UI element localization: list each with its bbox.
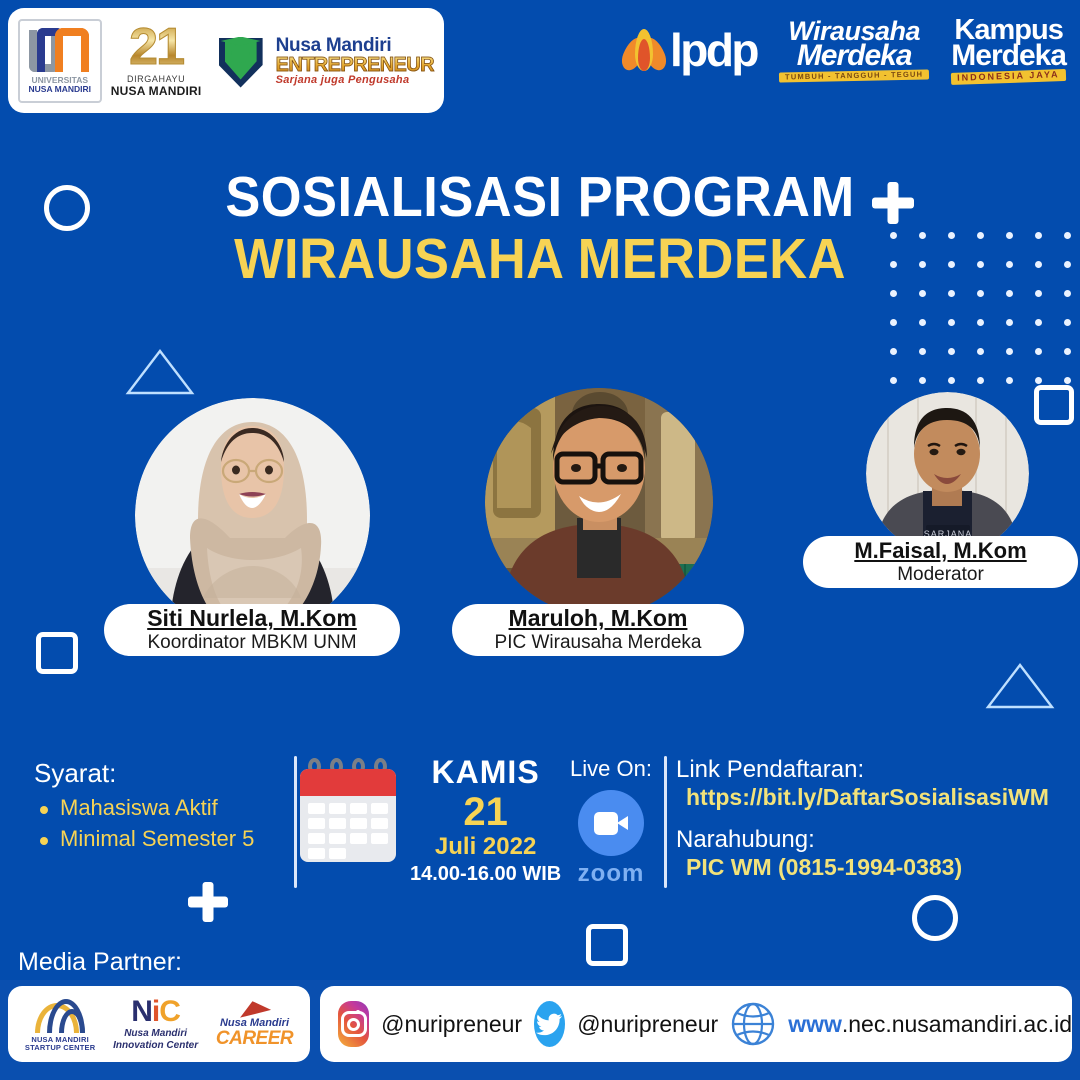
title-line-1: SOSIALISASI PROGRAM [43, 168, 1037, 228]
schedule-text: KAMIS 21 Juli 2022 14.00-16.00 WIB [410, 752, 561, 886]
live-on-block: Live On: zoom [563, 756, 659, 888]
speaker-photo-2 [485, 388, 713, 616]
entrepreneur-line2: ENTREPRENEUR [276, 55, 434, 75]
title-line-2: WIRAUSAHA MERDEKA [43, 228, 1037, 291]
requirement-item: Minimal Semester 5 [60, 826, 254, 852]
kampus-line2: Merdeka [951, 43, 1066, 69]
live-on-label: Live On: [563, 756, 659, 782]
wirausaha-line2: Merdeka [779, 43, 929, 69]
speaker-role-3: Moderator [897, 564, 984, 585]
contact-value: PIC WM (0815-1994-0383) [686, 854, 1049, 882]
anniversary-line2: NUSA MANDIRI [110, 84, 203, 98]
speaker-role-2: PIC Wirausaha Merdeka [495, 632, 702, 653]
website-prefix: www [788, 1011, 842, 1037]
schedule-month-year: Juli 2022 [410, 833, 561, 861]
entrepreneur-tagline: Sarjana juga Pengusaha [276, 75, 434, 86]
calendar-icon [300, 766, 396, 862]
lpdp-wordmark: lpdp [670, 30, 757, 71]
startup-center-logo: NUSA MANDIRI STARTUP CENTER [25, 997, 95, 1051]
footer-bar: NUSA MANDIRI STARTUP CENTER NiC Nusa Man… [0, 980, 1080, 1080]
speaker-name-1: Siti Nurlela, M.Kom [147, 606, 357, 632]
entrepreneur-line1: Nusa Mandiri [276, 36, 434, 55]
divider-1 [294, 756, 297, 888]
anniversary-line1: DIRGAHAYU [110, 74, 203, 84]
speaker-name-2: Maruloh, M.Kom [509, 606, 688, 632]
globe-icon [730, 1001, 776, 1047]
registration-link-value[interactable]: https://bit.ly/DaftarSosialisasiWM [686, 784, 1049, 812]
graduate-shield-icon [211, 30, 271, 92]
instagram-icon[interactable] [338, 1001, 369, 1047]
unm-logo: UNIVERSITAS NUSA MANDIRI [18, 19, 102, 103]
website-domain: .nec.nusamandiri.ac.id [842, 1011, 1072, 1037]
instagram-handle[interactable]: @nuripreneur [381, 1011, 522, 1038]
signal-arcs-icon [33, 997, 87, 1033]
career-line2: CAREER [216, 1029, 293, 1048]
requirements-heading: Syarat: [34, 758, 254, 789]
requirements-list: Mahasiswa Aktif Minimal Semester 5 [34, 795, 254, 852]
speaker-photo-3: SARJANA [866, 392, 1029, 555]
speaker-name-3: M.Faisal, M.Kom [854, 539, 1026, 564]
career-logo: Nusa Mandiri CAREER [216, 1001, 293, 1048]
header-logo-card: UNIVERSITAS NUSA MANDIRI 21 DIRGAHAYU NU… [8, 8, 444, 113]
poster-canvas: UNIVERSITAS NUSA MANDIRI 21 DIRGAHAYU NU… [0, 0, 1080, 1080]
decor-plus-bottom-left [188, 882, 228, 922]
speaker-name-chip-3: M.Faisal, M.Kom Moderator [803, 536, 1078, 588]
innovation-center-line2: Innovation Center [113, 1041, 198, 1051]
registration-link-label: Link Pendaftaran: [676, 756, 1049, 784]
graduation-cap-icon [216, 1001, 293, 1018]
poster-title: SOSIALISASI PROGRAM WIRAUSAHA MERDEKA [0, 168, 1080, 291]
schedule-time: 14.00-16.00 WIB [410, 863, 561, 886]
startup-center-line2: STARTUP CENTER [25, 1044, 95, 1052]
media-partner-heading: Media Partner: [18, 948, 182, 977]
twitter-handle[interactable]: @nuripreneur [577, 1011, 718, 1038]
twitter-icon[interactable] [534, 1001, 565, 1047]
nic-monogram-icon: NiC [113, 997, 198, 1027]
requirements-block: Syarat: Mahasiswa Aktif Minimal Semester… [34, 758, 254, 857]
video-camera-icon[interactable] [578, 790, 644, 856]
speaker-photo-1 [135, 398, 370, 633]
media-partner-logos: NUSA MANDIRI STARTUP CENTER NiC Nusa Man… [8, 986, 310, 1062]
decor-square-bottom-center [586, 924, 628, 966]
flame-icon [624, 27, 664, 73]
innovation-center-line1: Nusa Mandiri [113, 1029, 198, 1039]
website-url[interactable]: www.nec.nusamandiri.ac.id [788, 1011, 1072, 1038]
career-line1: Nusa Mandiri [216, 1018, 293, 1029]
speaker-name-chip-1: Siti Nurlela, M.Kom Koordinator MBKM UNM [104, 604, 400, 656]
schedule-day: KAMIS [410, 754, 561, 791]
social-links: @nuripreneur @nuripreneur www.nec.nusama… [320, 986, 1072, 1062]
partner-logos: lpdp Wirausaha Merdeka TUMBUH - TANGGUH … [624, 18, 1066, 82]
schedule-date-number: 21 [410, 791, 561, 833]
innovation-center-logo: NiC Nusa Mandiri Innovation Center [113, 997, 198, 1051]
divider-2 [664, 756, 667, 888]
unm-monogram-icon [29, 28, 91, 74]
entrepreneur-logo-text: Nusa Mandiri ENTREPRENEUR Sarjana juga P… [276, 36, 434, 86]
speaker-role-1: Koordinator MBKM UNM [147, 632, 356, 653]
anniversary-logo: 21 DIRGAHAYU NUSA MANDIRI [110, 23, 203, 97]
contact-label: Narahubung: [676, 826, 1049, 854]
decor-square-right-top [1034, 385, 1074, 425]
schedule-block: KAMIS 21 Juli 2022 14.00-16.00 WIB [300, 752, 561, 886]
lpdp-logo: lpdp [624, 27, 757, 73]
unm-logo-text: UNIVERSITAS NUSA MANDIRI [29, 76, 92, 94]
unm-line2: NUSA MANDIRI [29, 85, 92, 94]
kampus-merdeka-logo: Kampus Merdeka INDONESIA JAYA [951, 18, 1066, 82]
decor-square-left [36, 632, 78, 674]
zoom-wordmark: zoom [563, 860, 659, 888]
entrepreneur-logo: Nusa Mandiri ENTREPRENEUR Sarjana juga P… [211, 30, 434, 92]
decor-circle-bottom-right [912, 895, 958, 941]
speaker-name-chip-2: Maruloh, M.Kom PIC Wirausaha Merdeka [452, 604, 744, 656]
requirement-item: Mahasiswa Aktif [60, 795, 254, 821]
registration-block: Link Pendaftaran: https://bit.ly/DaftarS… [676, 756, 1049, 882]
wirausaha-merdeka-logo: Wirausaha Merdeka TUMBUH - TANGGUH - TEG… [779, 20, 929, 81]
anniversary-number: 21 [110, 23, 203, 72]
